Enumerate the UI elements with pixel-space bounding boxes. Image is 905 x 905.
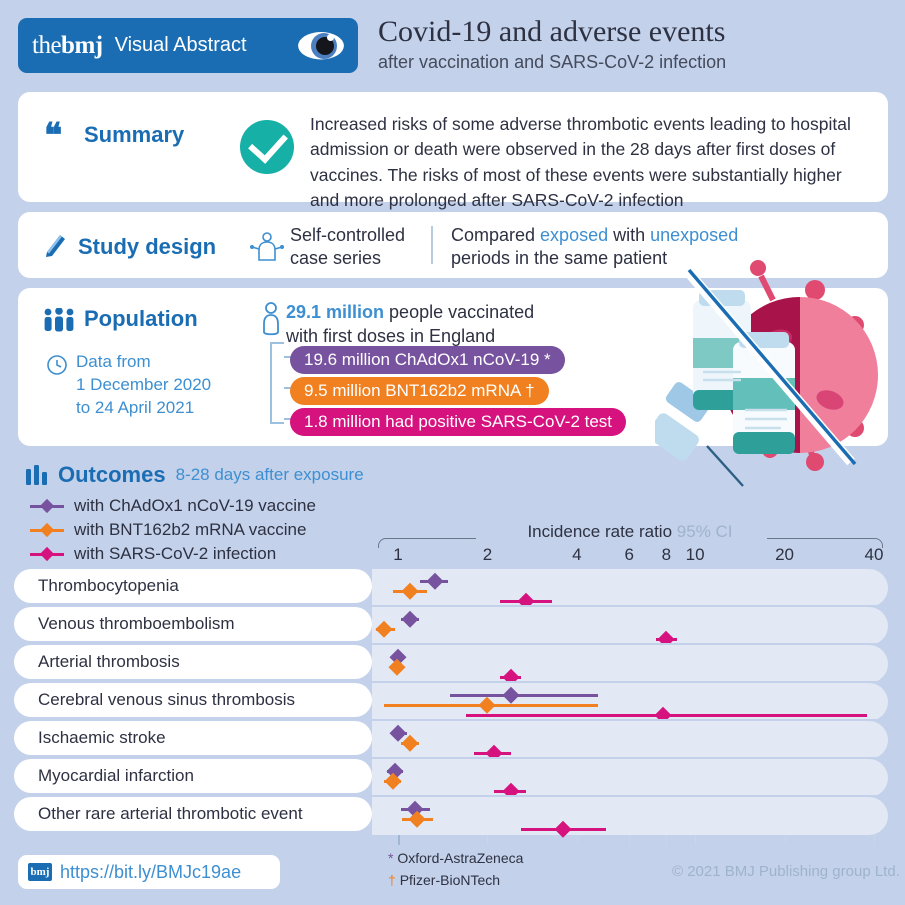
data-from-end: to 24 April 2021 bbox=[76, 398, 194, 417]
self-controlled-case-series-icon bbox=[250, 230, 284, 264]
footnote-dagger: † Pfizer-BioNTech bbox=[388, 870, 523, 892]
pencil-icon bbox=[44, 232, 68, 258]
url-button[interactable]: bmj https://bit.ly/BMJc19ae bbox=[18, 855, 280, 889]
clock-icon bbox=[46, 354, 68, 376]
axis-title-text: Incidence rate ratio bbox=[527, 522, 672, 541]
summary-text: Increased risks of some adverse thrombot… bbox=[310, 112, 872, 214]
legend-label: with BNT162b2 mRNA vaccine bbox=[74, 517, 306, 543]
eye-icon bbox=[298, 32, 344, 60]
study-design-label: Study design bbox=[78, 234, 216, 260]
bar-chart-icon bbox=[26, 465, 48, 485]
chart-legend: with ChAdOx1 nCoV-19 vaccinewith BNT162b… bbox=[30, 494, 316, 566]
study-design-card: Study design Self-controlled case series… bbox=[18, 212, 888, 278]
page-title: Covid-19 and adverse events bbox=[378, 14, 726, 50]
outcome-label-5: Myocardial infarction bbox=[14, 759, 372, 793]
outcomes-sublabel: 8-28 days after exposure bbox=[176, 465, 364, 485]
axis-tick-40: 40 bbox=[865, 545, 884, 565]
page-subtitle: after vaccination and SARS-CoV-2 infecti… bbox=[378, 52, 726, 73]
bmj-logo: thebmj bbox=[32, 32, 103, 60]
outcome-label-6: Other rare arterial thrombotic event bbox=[14, 797, 372, 831]
population-group-chadox1: 19.6 million ChAdOx1 nCoV-19 * bbox=[290, 346, 565, 374]
marker-6-2 bbox=[372, 822, 888, 836]
row-separator bbox=[372, 757, 888, 759]
legend-item-0: with ChAdOx1 nCoV-19 vaccine bbox=[30, 494, 316, 518]
design-type-text: Self-controlled case series bbox=[290, 224, 420, 271]
forest-plot: Incidence rate ratio 95% CI 12468102040 bbox=[372, 523, 888, 845]
axis-tick-4: 4 bbox=[572, 545, 581, 565]
legend-label: with SARS-CoV-2 infection bbox=[74, 541, 276, 567]
population-group-bnt162b2: 9.5 million BNT162b2 mRNA † bbox=[290, 377, 549, 405]
outcomes-label: Outcomes bbox=[58, 462, 166, 488]
axis-tick-2: 2 bbox=[483, 545, 492, 565]
logo-the: the bbox=[32, 32, 61, 59]
axis-ci-label: 95% CI bbox=[677, 522, 733, 541]
row-separator bbox=[372, 681, 888, 683]
visual-abstract-page: thebmj Visual Abstract Covid-19 and adve… bbox=[0, 0, 905, 905]
axis-tick-1: 1 bbox=[393, 545, 402, 565]
legend-label: with ChAdOx1 nCoV-19 vaccine bbox=[74, 493, 316, 519]
design-comparison-text: Compared exposed with unexposedperiods i… bbox=[451, 224, 791, 271]
data-from-label: Data from bbox=[76, 352, 151, 371]
summary-card: ❝ Summary Increased risks of some advers… bbox=[18, 92, 888, 202]
bmj-mini-logo: bmj bbox=[28, 863, 52, 881]
study-url[interactable]: https://bit.ly/BMJc19ae bbox=[60, 862, 241, 883]
summary-label: Summary bbox=[84, 122, 184, 148]
legend-marker-icon bbox=[30, 500, 64, 512]
axis-tick-20: 20 bbox=[775, 545, 794, 565]
footnotes: * Oxford-AstraZeneca † Pfizer-BioNTech bbox=[388, 848, 523, 891]
group-bracket bbox=[270, 342, 284, 424]
row-separator bbox=[372, 719, 888, 721]
axis-tick-6: 6 bbox=[624, 545, 633, 565]
outcome-label-3: Cerebral venous sinus thrombosis bbox=[14, 683, 372, 717]
axis-tick-10: 10 bbox=[686, 545, 705, 565]
bmj-brand-bar: thebmj Visual Abstract bbox=[18, 18, 358, 73]
axis-tick-8: 8 bbox=[662, 545, 671, 565]
footnote-star: * Oxford-AstraZeneca bbox=[388, 848, 523, 870]
population-card: Population Data from 1 December 2020 to … bbox=[18, 288, 888, 446]
row-separator bbox=[372, 605, 888, 607]
row-separator bbox=[372, 643, 888, 645]
outcome-label-0: Thrombocytopenia bbox=[14, 569, 372, 603]
header: thebmj Visual Abstract Covid-19 and adve… bbox=[18, 18, 888, 76]
population-count: 29.1 million bbox=[286, 302, 384, 322]
outcome-label-2: Arterial thrombosis bbox=[14, 645, 372, 679]
title-block: Covid-19 and adverse events after vaccin… bbox=[378, 14, 726, 73]
quote-icon: ❝ bbox=[44, 120, 62, 154]
population-group-sars-cov-2: 1.8 million had positive SARS-CoV-2 test bbox=[290, 408, 626, 436]
unexposed-text: unexposed bbox=[650, 225, 738, 245]
person-icon bbox=[261, 302, 281, 338]
population-date-range: Data from 1 December 2020 to 24 April 20… bbox=[76, 351, 211, 420]
population-headline: 29.1 million people vaccinated with firs… bbox=[286, 300, 534, 349]
outcome-label-1: Venous thromboembolism bbox=[14, 607, 372, 641]
row-separator bbox=[372, 795, 888, 797]
logo-bmj: bmj bbox=[61, 32, 103, 59]
data-from-start: 1 December 2020 bbox=[76, 375, 211, 394]
outcomes-header: Outcomes 8-28 days after exposure bbox=[26, 462, 364, 488]
exposed-text: exposed bbox=[540, 225, 608, 245]
axis-ticks: 12468102040 bbox=[372, 545, 888, 567]
outcome-label-4: Ischaemic stroke bbox=[14, 721, 372, 755]
checkmark-icon bbox=[240, 120, 294, 174]
population-label: Population bbox=[84, 306, 198, 332]
legend-marker-icon bbox=[30, 524, 64, 536]
people-icon bbox=[42, 308, 76, 332]
copyright-text: © 2021 BMJ Publishing group Ltd. bbox=[672, 863, 900, 880]
visual-abstract-label: Visual Abstract bbox=[115, 34, 286, 57]
legend-marker-icon bbox=[30, 548, 64, 560]
legend-item-2: with SARS-CoV-2 infection bbox=[30, 542, 316, 566]
design-divider bbox=[431, 226, 433, 264]
legend-item-1: with BNT162b2 mRNA vaccine bbox=[30, 518, 316, 542]
